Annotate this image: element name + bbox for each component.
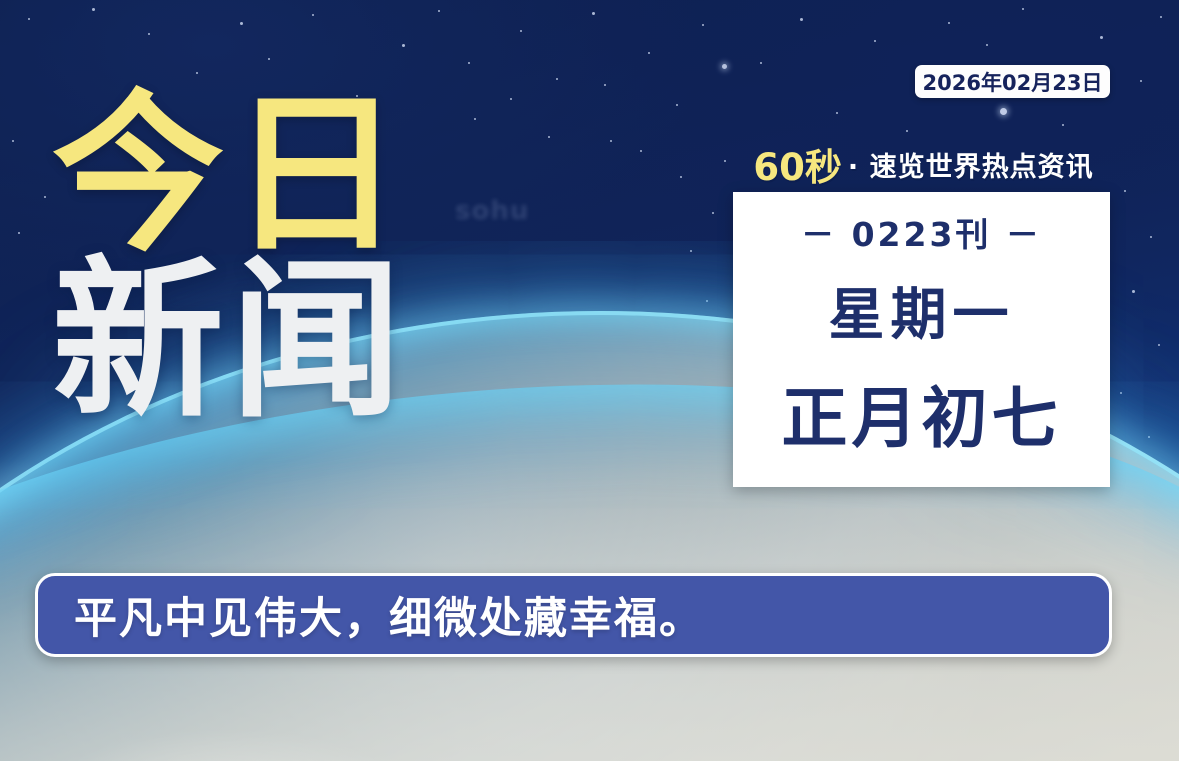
issue-card: － 0223刊 － 星期一 正月初七: [733, 192, 1110, 487]
tagline-text: · 速览世界热点资讯: [848, 145, 1094, 184]
quote-text: 平凡中见伟大，细微处藏幸福。: [74, 584, 704, 646]
poster-title: 今日 新闻: [52, 96, 408, 420]
tagline-seconds: 60秒: [753, 137, 842, 191]
issue-number: － 0223刊 －: [801, 208, 1042, 256]
quote-banner: 平凡中见伟大，细微处藏幸福。: [35, 573, 1112, 657]
lunar-date-label: 正月初七: [782, 365, 1062, 461]
news-poster: sohu 今日 新闻 2026年02月23日 60秒 · 速览世界热点资讯 － …: [0, 0, 1179, 761]
poster-title-line-1: 今日: [52, 96, 408, 254]
watermark: sohu: [455, 196, 595, 230]
weekday-label: 星期一: [829, 270, 1015, 351]
date-badge: 2026年02月23日: [915, 65, 1110, 98]
tagline: 60秒 · 速览世界热点资讯: [737, 142, 1110, 186]
date-badge-label: 2026年02月23日: [923, 67, 1103, 97]
poster-title-line-2: 新闻: [52, 262, 408, 420]
